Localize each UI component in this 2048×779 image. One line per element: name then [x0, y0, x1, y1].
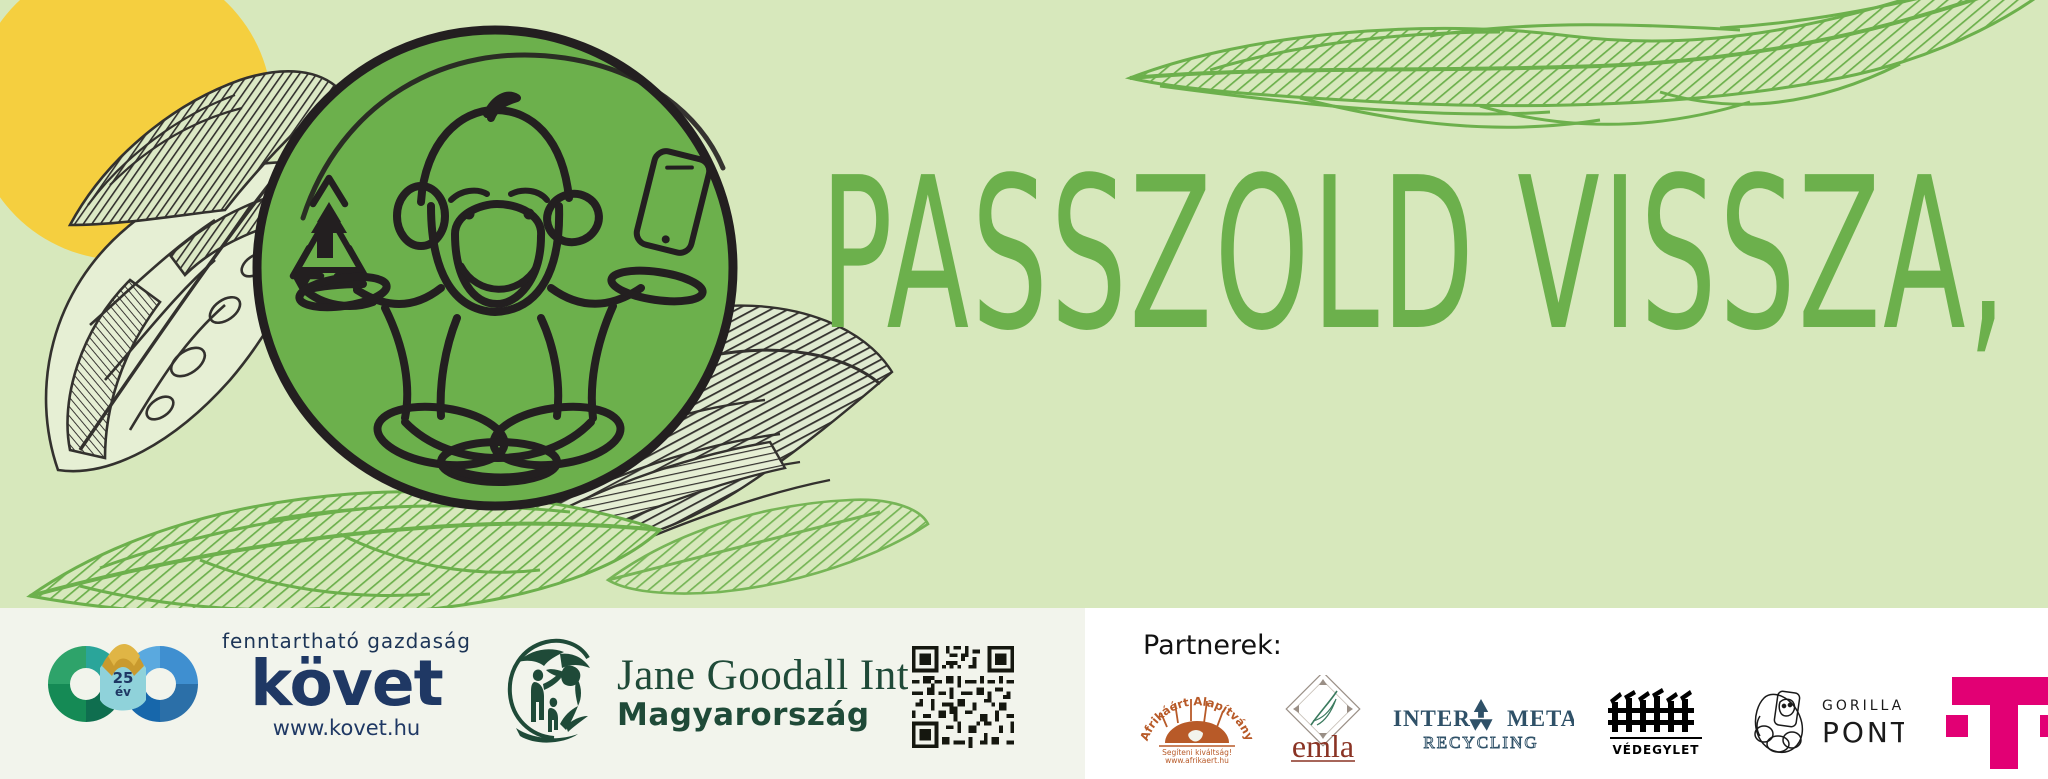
afrikaert-url: www.afrikaert.hu	[1165, 756, 1229, 763]
kovet-url[interactable]: www.kovet.hu	[273, 718, 420, 739]
intermetal-name-right: METAL	[1507, 706, 1574, 731]
gorilla-name-bottom: PONT	[1822, 716, 1904, 749]
telekom-t-icon	[1946, 677, 2048, 769]
emla-name: emla	[1292, 728, 1354, 764]
jane-goodall-emblem-icon	[500, 636, 605, 748]
partner-logo-telekom[interactable]: T	[1946, 667, 2048, 773]
kovet-name: követ	[250, 652, 442, 715]
headline: PASSZOLD VISSZA, TESÓ!	[820, 155, 2030, 355]
gorilla-name-top: GORILLA	[1822, 698, 1904, 714]
partner-logo-gorilla-pont[interactable]: GORILLA PONT	[1734, 682, 1904, 758]
partner-logo-intermetal-recycling[interactable]: INTER METAL RECYCLING	[1389, 684, 1574, 756]
kovet-logo-block[interactable]: 25 év fenntartható gazdaság követ www.ko…	[38, 626, 471, 744]
kovet-infinity-icon: 25 év	[38, 626, 208, 744]
campaign-banner: PASSZOLD VISSZA, TESÓ!	[0, 0, 2048, 779]
footer: 25 év fenntartható gazdaság követ www.ko…	[0, 608, 2048, 779]
footer-right-panel: Partnerek: Afrikáért Alapítvány	[1085, 608, 2048, 779]
vedegylet-name: VÉDEGYLET	[1613, 742, 1700, 757]
intermetal-subtitle: RECYCLING	[1423, 733, 1538, 752]
partner-logo-emla[interactable]: emla	[1267, 675, 1379, 765]
kovet-anniversary-unit: év	[115, 685, 131, 699]
headline-text: PASSZOLD VISSZA, TESÓ!	[820, 155, 2048, 354]
recycle-icon	[1469, 699, 1492, 731]
partner-logo-afrikaert-alapitvany[interactable]: Afrikáért Alapítvány Segíteni kivál	[1137, 677, 1257, 763]
intermetal-name-left: INTER	[1393, 706, 1471, 731]
hero-section: PASSZOLD VISSZA, TESÓ!	[0, 0, 2048, 608]
partner-logo-vedegylet[interactable]: VÉDEGYLET	[1602, 682, 1712, 758]
gorilla-icon	[1755, 691, 1802, 753]
sun-shape	[0, 0, 272, 260]
qr-code[interactable]	[908, 642, 1018, 752]
partner-logos-row: Afrikáért Alapítvány Segíteni kivál	[1137, 670, 2017, 770]
kovet-wordmark: fenntartható gazdaság követ www.kovet.hu	[222, 631, 471, 739]
partners-label: Partnerek:	[1143, 630, 1282, 661]
monkey-badge-illustration	[245, 18, 745, 518]
